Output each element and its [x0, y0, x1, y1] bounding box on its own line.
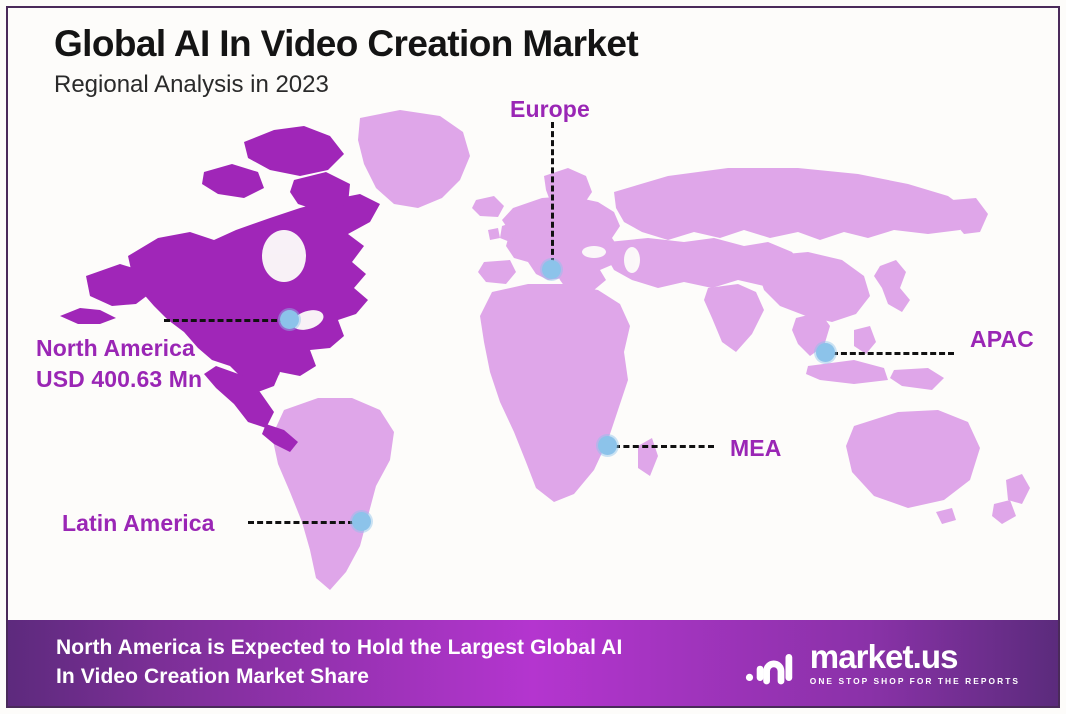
black-sea — [582, 246, 606, 258]
connector-apac — [832, 352, 954, 355]
label-latin-america: Latin America — [62, 508, 215, 539]
connector-europe — [551, 122, 554, 264]
region-new-zealand — [1006, 474, 1030, 504]
infographic-poster: Global AI In Video Creation Market Regio… — [0, 0, 1066, 714]
caspian-sea — [624, 247, 640, 273]
region-south-america — [272, 398, 394, 590]
poster-frame: Global AI In Video Creation Market Regio… — [6, 6, 1060, 708]
region-russia — [614, 168, 970, 240]
region-aleutians — [60, 308, 116, 324]
region-iceland — [472, 196, 504, 217]
marker-apac — [816, 343, 835, 362]
connector-latin-america — [248, 521, 354, 524]
region-new-zealand-south — [992, 500, 1016, 524]
region-canadian-arctic — [244, 126, 344, 176]
label-apac: APAC — [970, 324, 1034, 355]
region-japan — [874, 260, 910, 312]
region-philippines — [854, 326, 876, 354]
region-australia — [846, 410, 980, 508]
region-indonesia-1 — [806, 360, 888, 384]
hudson-bay — [262, 230, 306, 282]
label-latin-america-name: Latin America — [62, 510, 215, 536]
region-ireland — [488, 228, 500, 240]
logo-name: market.us — [810, 640, 1020, 673]
region-arctic-islands — [202, 164, 264, 198]
logo-mark-icon — [745, 641, 799, 685]
logo-text: market.us ONE STOP SHOP FOR THE REPORTS — [810, 640, 1020, 685]
footer-caption-line1: North America is Expected to Hold the La… — [56, 634, 622, 663]
marker-latin-america — [352, 512, 371, 531]
footer-caption-line2: In Video Creation Market Share — [56, 663, 622, 692]
label-mea: MEA — [730, 433, 781, 464]
region-baffin — [290, 172, 350, 212]
label-europe: Europe — [510, 94, 590, 125]
region-greenland — [358, 110, 470, 208]
marker-north-america — [280, 310, 299, 329]
footer-caption: North America is Expected to Hold the La… — [56, 634, 622, 692]
label-europe-name: Europe — [510, 96, 590, 122]
label-apac-name: APAC — [970, 326, 1034, 352]
footer-banner: North America is Expected to Hold the La… — [8, 620, 1058, 706]
label-north-america: North America USD 400.63 Mn — [36, 333, 202, 395]
connector-mea — [614, 445, 714, 448]
region-tasmania — [936, 508, 956, 524]
region-iberia — [478, 260, 516, 284]
marker-europe — [542, 260, 561, 279]
region-indonesia-2 — [890, 368, 944, 390]
label-north-america-name: North America — [36, 335, 195, 361]
region-madagascar — [638, 438, 658, 476]
label-north-america-value: USD 400.63 Mn — [36, 364, 202, 395]
marker-mea — [598, 436, 617, 455]
label-mea-name: MEA — [730, 435, 781, 461]
connector-north-america — [164, 319, 286, 322]
region-india — [704, 284, 764, 352]
region-africa — [480, 284, 630, 502]
logo-tagline: ONE STOP SHOP FOR THE REPORTS — [810, 677, 1020, 685]
page-title: Global AI In Video Creation Market — [54, 24, 914, 65]
market-us-logo[interactable]: market.us ONE STOP SHOP FOR THE REPORTS — [745, 640, 1036, 685]
region-east-asia — [758, 252, 870, 322]
